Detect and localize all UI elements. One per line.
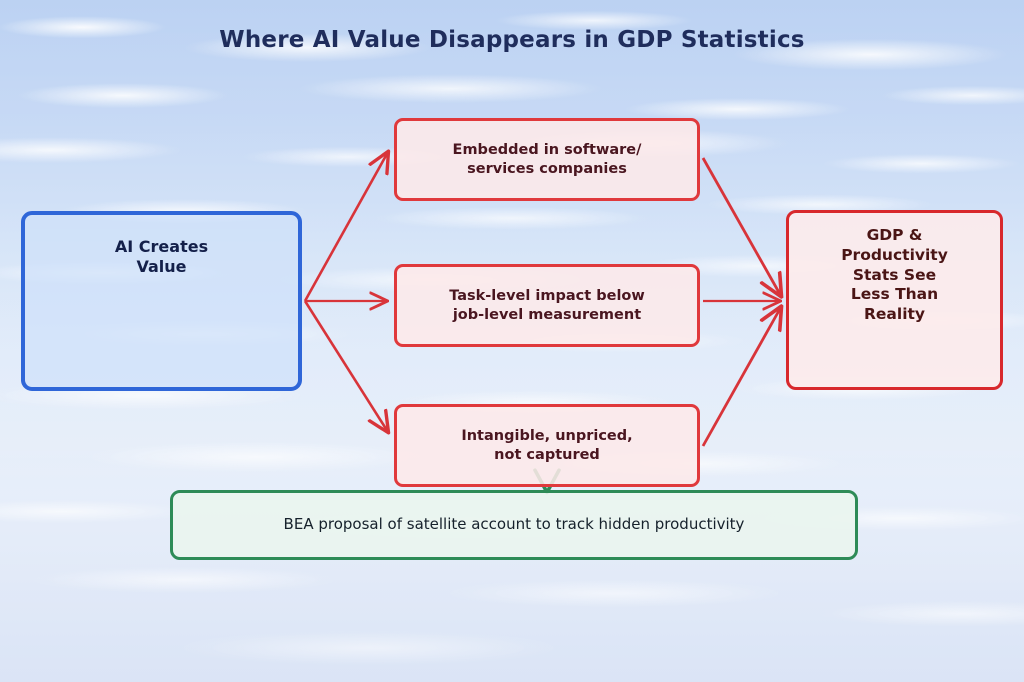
node-embedded-in-software-services[interactable]: Embedded in software/ services companies	[394, 118, 700, 201]
node-proposal-label: BEA proposal of satellite account to tra…	[284, 515, 745, 534]
node-ai-creates-value[interactable]: AI Creates Value	[21, 211, 302, 391]
page-title: Where AI Value Disappears in GDP Statist…	[0, 27, 1024, 53]
node-mechanism-1-label: Embedded in software/ services companies	[453, 141, 642, 178]
diagram-canvas: Where AI Value Disappears in GDP Statist…	[0, 0, 1024, 682]
node-gdp-productivity-stats[interactable]: GDP & Productivity Stats See Less Than R…	[786, 210, 1003, 390]
node-mechanism-3-label: Intangible, unpriced, not captured	[461, 427, 632, 464]
node-intangible-unpriced[interactable]: Intangible, unpriced, not captured	[394, 404, 700, 487]
node-mechanism-2-label: Task-level impact below job-level measur…	[449, 287, 645, 324]
node-source-label: AI Creates Value	[115, 237, 208, 278]
node-bea-satellite-account-proposal[interactable]: BEA proposal of satellite account to tra…	[170, 490, 858, 560]
node-outcome-label: GDP & Productivity Stats See Less Than R…	[841, 226, 948, 325]
node-task-level-impact[interactable]: Task-level impact below job-level measur…	[394, 264, 700, 347]
